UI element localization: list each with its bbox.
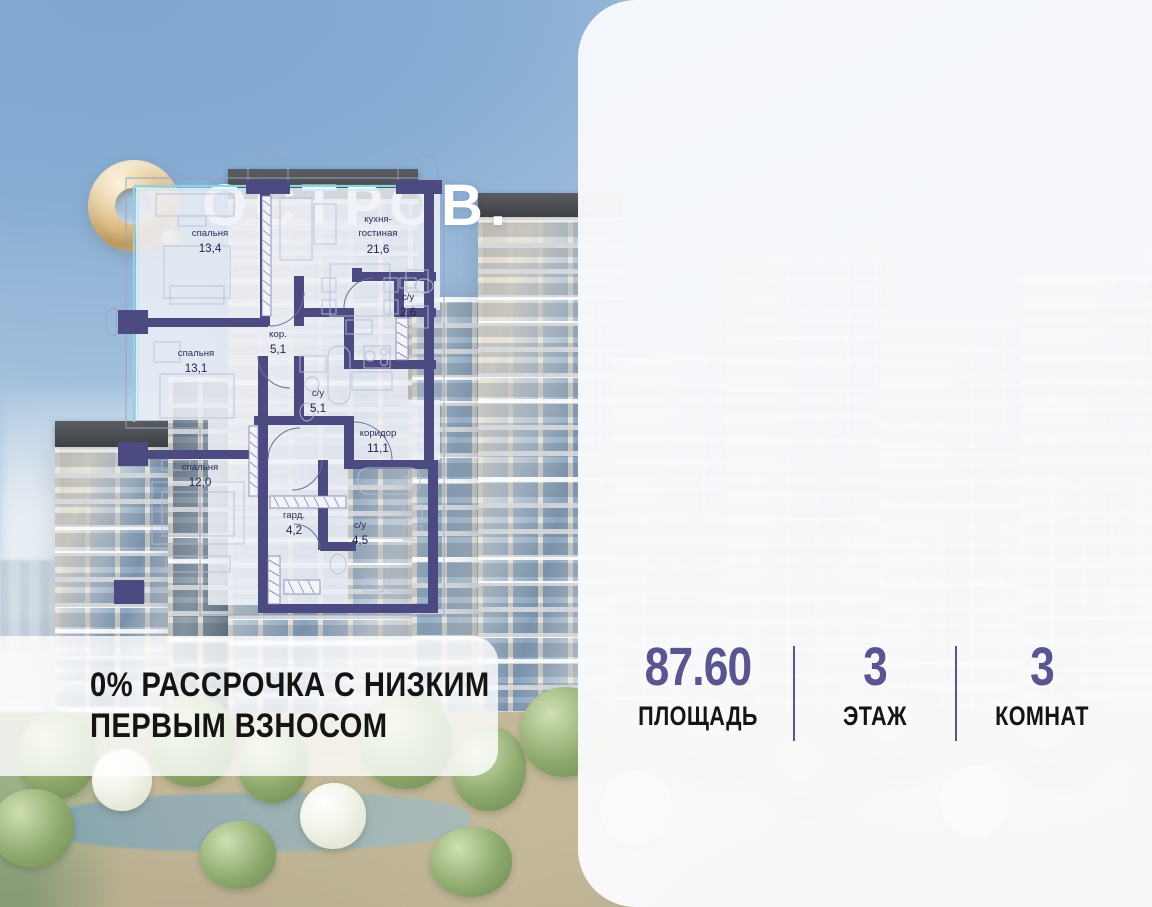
room-area: 5,1 [310,402,326,415]
tree [200,821,276,889]
room-name-2: гостиная [358,228,397,239]
room-name: с/у [312,388,324,399]
room-name: с/у [402,292,414,303]
room-area: 2,6 [400,306,416,319]
card-veil [578,0,1152,907]
tree [430,827,512,897]
room-name: спальня [178,348,214,359]
room-area: 21,6 [367,243,390,256]
promo-card-stage: ОСТРОВ. 0% РАССРОЧКА С НИЗКИМ ПЕРВЫМ ВЗН… [0,0,1152,907]
tree [300,783,366,849]
stat-area-label: ПЛОЩАДЬ [627,703,769,730]
stat-area-value: 87.60 [625,640,771,694]
floor-plan[interactable]: .w { fill:#4b4b82; } .thin { fill:none; … [108,160,468,620]
stat-rooms-value: 3 [977,640,1107,694]
room-name: кор. [269,329,287,340]
promo-line-1: 0% РАССРОЧКА С НИЗКИМ [90,665,420,706]
plan-interior-fill [136,188,440,605]
room-name: кухня- [364,214,392,225]
stat-area: 87.60 ПЛОЩАДЬ [603,640,793,730]
stat-floor: 3 ЭТАЖ [795,640,955,730]
stat-floor-value: 3 [814,640,935,694]
stat-floor-label: ЭТАЖ [816,703,934,730]
room-area: 12,0 [189,476,212,489]
room-area: 11,1 [367,442,389,455]
stat-rooms: 3 КОМНАТ [957,640,1127,730]
room-area: 13,1 [185,362,208,375]
room-area: 4,5 [352,534,368,547]
stat-rooms-label: КОМНАТ [979,703,1105,730]
room-name: спальня [182,462,218,473]
room-area: 13,4 [199,242,222,255]
apartment-info-card [578,0,1152,907]
room-area: 5,1 [270,343,286,356]
room-name: с/у [354,520,366,531]
room-name: спальня [192,228,228,239]
room-area: 4,2 [286,524,302,537]
promo-banner: 0% РАССРОЧКА С НИЗКИМ ПЕРВЫМ ВЗНОСОМ [0,636,498,776]
room-name: коридор [360,428,397,439]
apartment-stats: 87.60 ПЛОЩАДЬ 3 ЭТАЖ 3 КОМНАТ [578,640,1152,750]
room-name: гард. [283,510,305,521]
promo-line-2: ПЕРВЫМ ВЗНОСОМ [90,706,420,747]
